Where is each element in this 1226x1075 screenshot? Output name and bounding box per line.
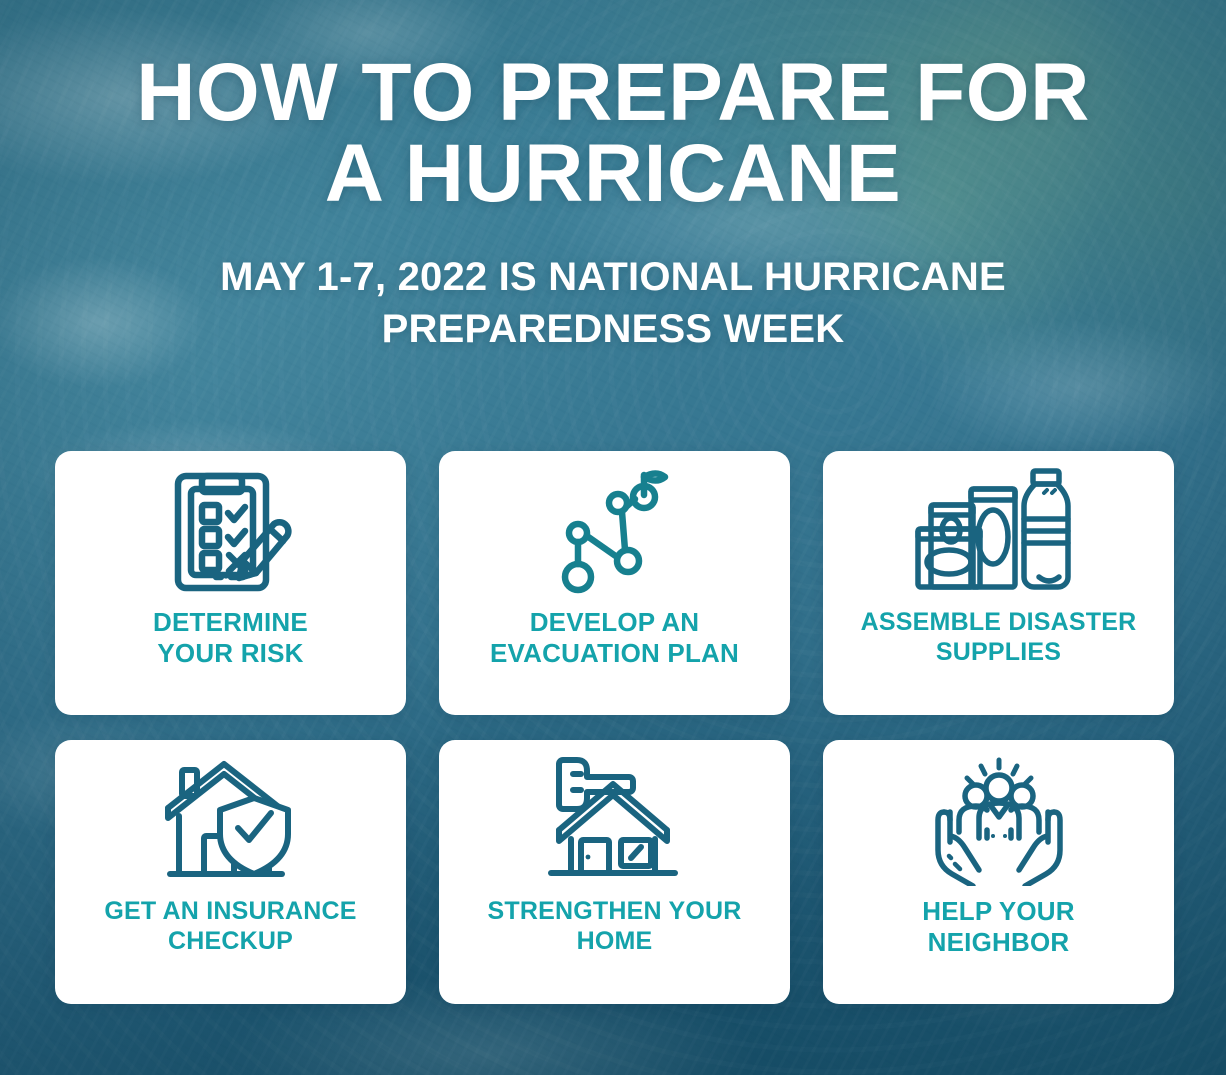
hands-holding-people-icon (931, 746, 1067, 896)
house-shield-check-icon (162, 746, 300, 896)
card-help-your-neighbor[interactable]: HELP YOUR NEIGHBOR (823, 740, 1174, 1004)
page-subtitle-line-1: MAY 1-7, 2022 IS NATIONAL HURRICANE (220, 255, 1006, 299)
page-title-line-2: A HURRICANE (325, 128, 901, 219)
card-assemble-disaster-supplies[interactable]: ASSEMBLE DISASTER SUPPLIES (823, 451, 1174, 715)
preparedness-steps-grid: DETERMINE YOUR RISK DEVEL (55, 451, 1174, 1004)
canned-food-water-bottle-icon (913, 457, 1085, 607)
card-get-an-insurance-checkup[interactable]: GET AN INSURANCE CHECKUP (55, 740, 406, 1004)
page-subtitle-line-2: PREPAREDNESS WEEK (382, 307, 845, 351)
hurricane-preparedness-infographic: HOW TO PREPARE FOR A HURRICANE MAY 1-7, … (0, 0, 1226, 1075)
card-label: DEVELOP AN EVACUATION PLAN (478, 607, 751, 669)
card-determine-your-risk[interactable]: DETERMINE YOUR RISK (55, 451, 406, 715)
clipboard-checklist-pencil-icon (169, 457, 293, 607)
route-map-flag-icon (552, 457, 678, 607)
page-title: HOW TO PREPARE FOR A HURRICANE (0, 52, 1226, 214)
card-label: ASSEMBLE DISASTER SUPPLIES (849, 607, 1149, 667)
page-subtitle: MAY 1-7, 2022 IS NATIONAL HURRICANE PREP… (0, 252, 1226, 354)
house-hammer-icon (545, 746, 685, 896)
card-label: GET AN INSURANCE CHECKUP (92, 896, 368, 956)
card-label: STRENGTHEN YOUR HOME (476, 896, 754, 956)
card-strengthen-your-home[interactable]: STRENGTHEN YOUR HOME (439, 740, 790, 1004)
card-label: DETERMINE YOUR RISK (141, 607, 320, 669)
page-title-line-1: HOW TO PREPARE FOR (136, 47, 1090, 138)
card-develop-an-evacuation-plan[interactable]: DEVELOP AN EVACUATION PLAN (439, 451, 790, 715)
card-label: HELP YOUR NEIGHBOR (910, 896, 1087, 958)
header-block: HOW TO PREPARE FOR A HURRICANE MAY 1-7, … (0, 52, 1226, 355)
